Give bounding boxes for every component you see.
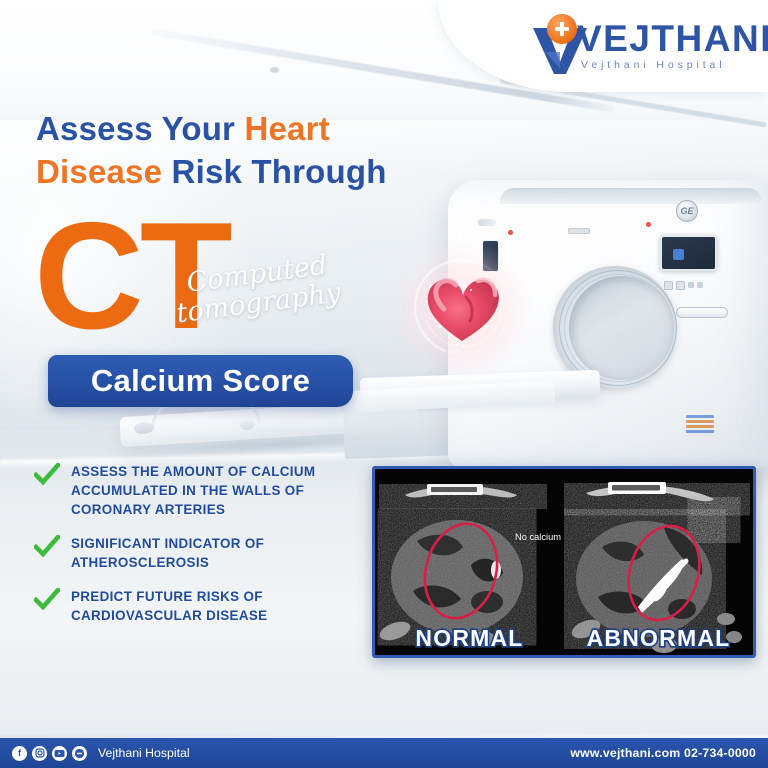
footer-hospital-name: Vejthani Hospital	[98, 746, 190, 760]
medical-cross-icon	[547, 14, 577, 44]
headline-seg: Heart	[244, 110, 329, 147]
footer-contact: www.vejthani.com 02-734-0000	[570, 746, 756, 760]
bore-aperture	[569, 276, 673, 380]
headline: Assess Your Heart Disease Risk Through	[36, 108, 456, 194]
check-icon	[34, 535, 60, 559]
headline-line-2: Disease Risk Through	[36, 151, 456, 194]
gantry-control-screen	[660, 235, 717, 271]
brand-logo[interactable]: VEJTHANI Vejthani Hospital	[511, 14, 746, 76]
line-icon[interactable]	[72, 746, 87, 761]
footer-bar: f Vejthani Hospital www.vejthani.com 02-…	[0, 738, 768, 768]
gantry-mini-control	[568, 228, 590, 234]
list-item-label: PREDICT FUTURE RISKS OF CARDIOVASCULAR D…	[71, 587, 374, 625]
glowing-heart-graphic	[408, 255, 518, 360]
scan-label-normal: NORMAL	[375, 625, 564, 652]
check-icon	[34, 463, 60, 487]
gantry-button	[688, 282, 694, 288]
instagram-icon[interactable]	[32, 746, 47, 761]
gantry-handle	[676, 307, 728, 318]
list-item: SIGNIFICANT INDICATOR OF ATHEROSCLEROSIS	[34, 534, 374, 572]
ct-scan-comparison-panel: No calcium NORMAL	[372, 466, 756, 658]
status-led-right	[646, 222, 651, 227]
poster-canvas: GE	[0, 0, 768, 768]
headline-seg: Assess Your	[36, 110, 244, 147]
status-led-left	[508, 230, 513, 235]
list-item-label: ASSESS THE AMOUNT OF CALCIUM ACCUMULATED…	[71, 462, 374, 519]
list-item: PREDICT FUTURE RISKS OF CARDIOVASCULAR D…	[34, 587, 374, 625]
ge-manufacturer-logo: GE	[676, 200, 698, 222]
headline-line-1: Assess Your Heart	[36, 108, 456, 151]
logo-wordmark: VEJTHANI	[577, 20, 768, 57]
calcium-score-banner: Calcium Score	[48, 355, 353, 407]
headline-seg: Risk Through	[172, 153, 387, 190]
check-icon	[34, 588, 60, 612]
gantry-button	[676, 281, 685, 290]
facebook-icon[interactable]: f	[12, 746, 27, 761]
calcium-score-label: Calcium Score	[91, 363, 310, 399]
scan-abnormal: Calcium in LAD and D1 ABNORMAL	[564, 469, 753, 655]
list-item-label: SIGNIFICANT INDICATOR OF ATHEROSCLEROSIS	[71, 534, 374, 572]
benefits-list: ASSESS THE AMOUNT OF CALCIUM ACCUMULATED…	[34, 462, 374, 640]
heart-sparkle	[456, 343, 459, 346]
gantry-button	[697, 282, 703, 288]
logo-tagline: Vejthani Hospital	[581, 59, 726, 71]
gantry-brand-mark	[478, 219, 496, 226]
heart-sparkle	[438, 325, 441, 328]
scan-label-abnormal: ABNORMAL	[564, 625, 753, 652]
gantry-top-trim	[500, 188, 762, 204]
ceiling-smoke-detector	[270, 67, 279, 73]
scan-normal: No calcium NORMAL	[375, 469, 564, 655]
heart-sparkle	[426, 301, 428, 303]
headline-seg: Disease	[36, 153, 172, 190]
footer-social-group: f Vejthani Hospital	[12, 746, 190, 761]
gantry-warning-sticker	[684, 412, 716, 436]
gantry-button	[664, 281, 673, 290]
gantry-button-row	[664, 276, 714, 294]
list-item: ASSESS THE AMOUNT OF CALCIUM ACCUMULATED…	[34, 462, 374, 519]
youtube-icon[interactable]	[52, 746, 67, 761]
scan-note-normal: No calcium	[515, 531, 561, 544]
